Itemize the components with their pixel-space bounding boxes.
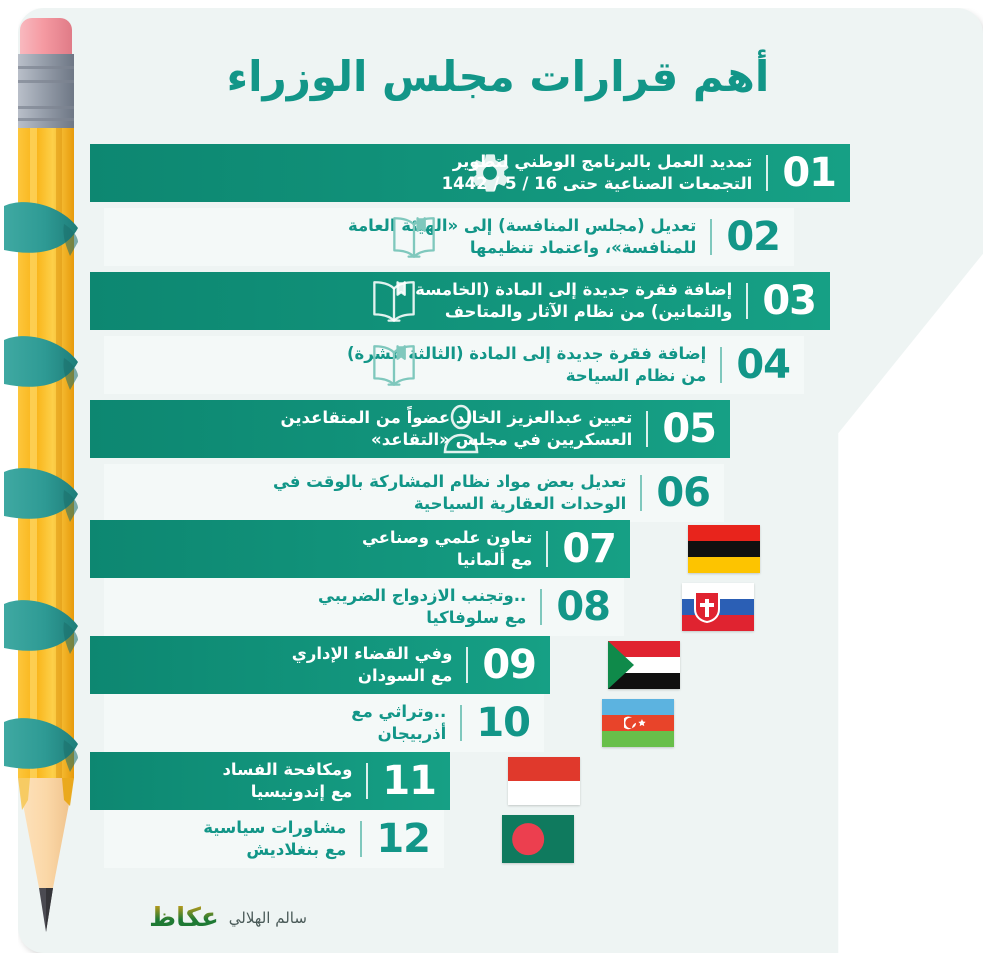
decision-number: 10 [476,703,530,743]
open-book-icon [385,212,443,262]
decision-row-05[interactable]: 05تعيين عبدالعزيز الخالد عضواً من المتقا… [18,400,983,458]
decision-row-10[interactable]: 10..وتراثي معأذربيجان [18,694,983,752]
decision-bar: 07تعاون علمي وصناعيمع ألمانيا [90,520,630,578]
decision-bar: 04إضافة فقرة جديدة إلى المادة (الثالثة ع… [104,336,804,394]
decision-text-line: مع ألمانيا [362,549,532,571]
decision-number: 06 [656,473,710,513]
decision-number: 04 [736,345,790,385]
decision-bar: 08..وتجنب الازدواج الضريبيمع سلوفاكيا [104,578,624,636]
decision-text: تعديل بعض مواد نظام المشاركة بالوقت فيال… [273,471,626,515]
divider [360,821,362,857]
slovakia-flag [682,583,754,631]
decision-number: 05 [662,409,716,449]
divider [720,347,722,383]
open-book-icon [365,276,423,326]
decision-number: 01 [782,153,836,193]
indonesia-flag [508,757,580,805]
decision-text: إضافة فقرة جديدة إلى المادة (الخامسةوالث… [415,279,732,323]
divider [766,155,768,191]
decision-text-line: ومكافحة الفساد [222,759,352,781]
divider [366,763,368,799]
decision-number: 02 [726,217,780,257]
decision-text-line: ..وتجنب الازدواج الضريبي [318,585,526,607]
decision-bar: 09وفي القضاء الإداريمع السودان [90,636,550,694]
sudan-flag [608,641,680,689]
decision-bar: 06تعديل بعض مواد نظام المشاركة بالوقت في… [104,464,724,522]
decision-row-06[interactable]: 06تعديل بعض مواد نظام المشاركة بالوقت في… [18,464,983,522]
decision-row-03[interactable]: 03إضافة فقرة جديدة إلى المادة (الخامسةوا… [18,272,983,330]
divider [640,475,642,511]
bangladesh-flag [502,815,574,863]
decision-bar: 10..وتراثي معأذربيجان [104,694,544,752]
decision-bar-body: 05تعيين عبدالعزيز الخالد عضواً من المتقا… [90,400,730,458]
decision-text-line: إضافة فقرة جديدة إلى المادة (الخامسة [415,279,732,301]
pencil-illustration [4,10,90,940]
decision-row-11[interactable]: 11ومكافحة الفسادمع إندونيسيا [18,752,983,810]
okaz-logo: عكاظ [149,903,219,933]
decision-text: ..وتراثي معأذربيجان [351,701,446,745]
decision-text-line: تعاون علمي وصناعي [362,527,532,549]
infographic-canvas: أهم قرارات مجلس الوزراء 01تمديد العمل با… [0,0,1000,965]
divider [546,531,548,567]
decision-text-line: الوحدات العقارية السياحية [273,493,626,515]
decision-text: تعاون علمي وصناعيمع ألمانيا [362,527,532,571]
card-content-clip: أهم قرارات مجلس الوزراء 01تمديد العمل با… [18,8,983,953]
decision-bar-body: 07تعاون علمي وصناعيمع ألمانيا [90,520,630,578]
decision-text-line: مع إندونيسيا [222,781,352,803]
decision-text-line: والثمانين) من نظام الآثار والمتاحف [415,301,732,323]
divider [746,283,748,319]
decision-text: ومكافحة الفسادمع إندونيسيا [222,759,352,803]
decision-text: ..وتجنب الازدواج الضريبيمع سلوفاكيا [318,585,526,629]
decision-bar: 02تعديل (مجلس المنافسة) إلى «الهيئة العا… [104,208,794,266]
decision-number: 07 [562,529,616,569]
germany-flag [688,525,760,573]
decision-bar: 11ومكافحة الفسادمع إندونيسيا [90,752,450,810]
decision-text-line: ..وتراثي مع [351,701,446,723]
decision-number: 08 [556,587,610,627]
decision-bar: 05تعيين عبدالعزيز الخالد عضواً من المتقا… [90,400,730,458]
azerbaijan-flag [602,699,674,747]
gear-icon [467,148,513,198]
decision-number: 11 [382,761,436,801]
open-book-icon [365,340,423,390]
decision-row-04[interactable]: 04إضافة فقرة جديدة إلى المادة (الثالثة ع… [18,336,983,394]
decision-text-line: مع سلوفاكيا [318,607,526,629]
decision-text-line: مع بنغلاديش [203,839,346,861]
decision-row-12[interactable]: 12مشاورات سياسيةمع بنغلاديش [18,810,983,868]
divider [646,411,648,447]
decision-number: 09 [482,645,536,685]
decision-text-line: مع السودان [292,665,453,687]
decision-row-07[interactable]: 07تعاون علمي وصناعيمع ألمانيا [18,520,983,578]
decision-row-01[interactable]: 01تمديد العمل بالبرنامج الوطني لتطويرالت… [18,144,983,202]
decision-text: مشاورات سياسيةمع بنغلاديش [203,817,346,861]
decision-text-line: أذربيجان [351,723,446,745]
decision-bar: 03إضافة فقرة جديدة إلى المادة (الخامسةوا… [90,272,830,330]
decision-row-02[interactable]: 02تعديل (مجلس المنافسة) إلى «الهيئة العا… [18,208,983,266]
decision-number: 03 [762,281,816,321]
decision-number: 12 [376,819,430,859]
decision-text: وفي القضاء الإداريمع السودان [292,643,453,687]
decision-text-line: وفي القضاء الإداري [292,643,453,665]
divider [466,647,468,683]
page-title: أهم قرارات مجلس الوزراء [138,52,858,101]
divider [540,589,542,625]
decision-text-line: تعديل بعض مواد نظام المشاركة بالوقت في [273,471,626,493]
decision-bar: 12مشاورات سياسيةمع بنغلاديش [104,810,444,868]
divider [710,219,712,255]
divider [460,705,462,741]
decision-bar-body: 11ومكافحة الفسادمع إندونيسيا [90,752,450,810]
decision-row-09[interactable]: 09وفي القضاء الإداريمع السودان [18,636,983,694]
author-name: سالم الهلالي [229,909,307,927]
decision-bar-body: 03إضافة فقرة جديدة إلى المادة (الخامسةوا… [90,272,830,330]
decision-text-line: مشاورات سياسية [203,817,346,839]
decision-bar-body: 09وفي القضاء الإداريمع السودان [90,636,550,694]
person-icon [439,404,483,454]
decision-row-08[interactable]: 08..وتجنب الازدواج الضريبيمع سلوفاكيا [18,578,983,636]
